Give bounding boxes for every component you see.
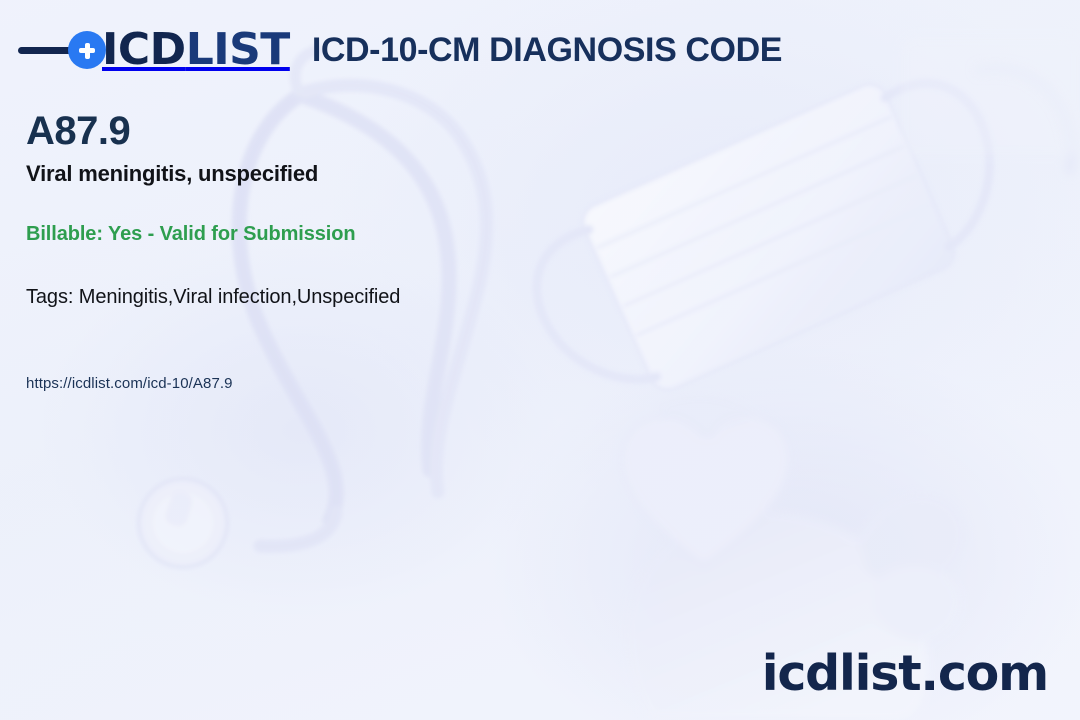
diagnosis-code: A87.9 bbox=[26, 108, 1036, 154]
logo-wordmark-secondary: LIST bbox=[186, 24, 290, 75]
code-details: A87.9 Viral meningitis, unspecified Bill… bbox=[26, 108, 1036, 392]
plus-circle-icon bbox=[68, 31, 106, 69]
header: ICDLIST ICD-10-CM DIAGNOSIS CODE bbox=[0, 0, 1080, 100]
logo-wordmark-primary: ICD bbox=[102, 24, 186, 75]
source-url[interactable]: https://icdlist.com/icd-10/A87.9 bbox=[26, 375, 1036, 392]
page-title: ICD-10-CM DIAGNOSIS CODE bbox=[312, 31, 782, 70]
icdlist-logo[interactable]: ICDLIST bbox=[18, 22, 290, 78]
tags-line: Tags: Meningitis,Viral infection,Unspeci… bbox=[26, 286, 1036, 309]
diagnosis-description: Viral meningitis, unspecified bbox=[26, 160, 1036, 189]
logo-wordmark: ICDLIST bbox=[102, 28, 290, 72]
site-watermark: icdlist.com bbox=[762, 649, 1048, 698]
icd-code-card: ICDLIST ICD-10-CM DIAGNOSIS CODE A87.9 V… bbox=[0, 0, 1080, 720]
billable-status-badge: Billable: Yes - Valid for Submission bbox=[26, 223, 1036, 246]
